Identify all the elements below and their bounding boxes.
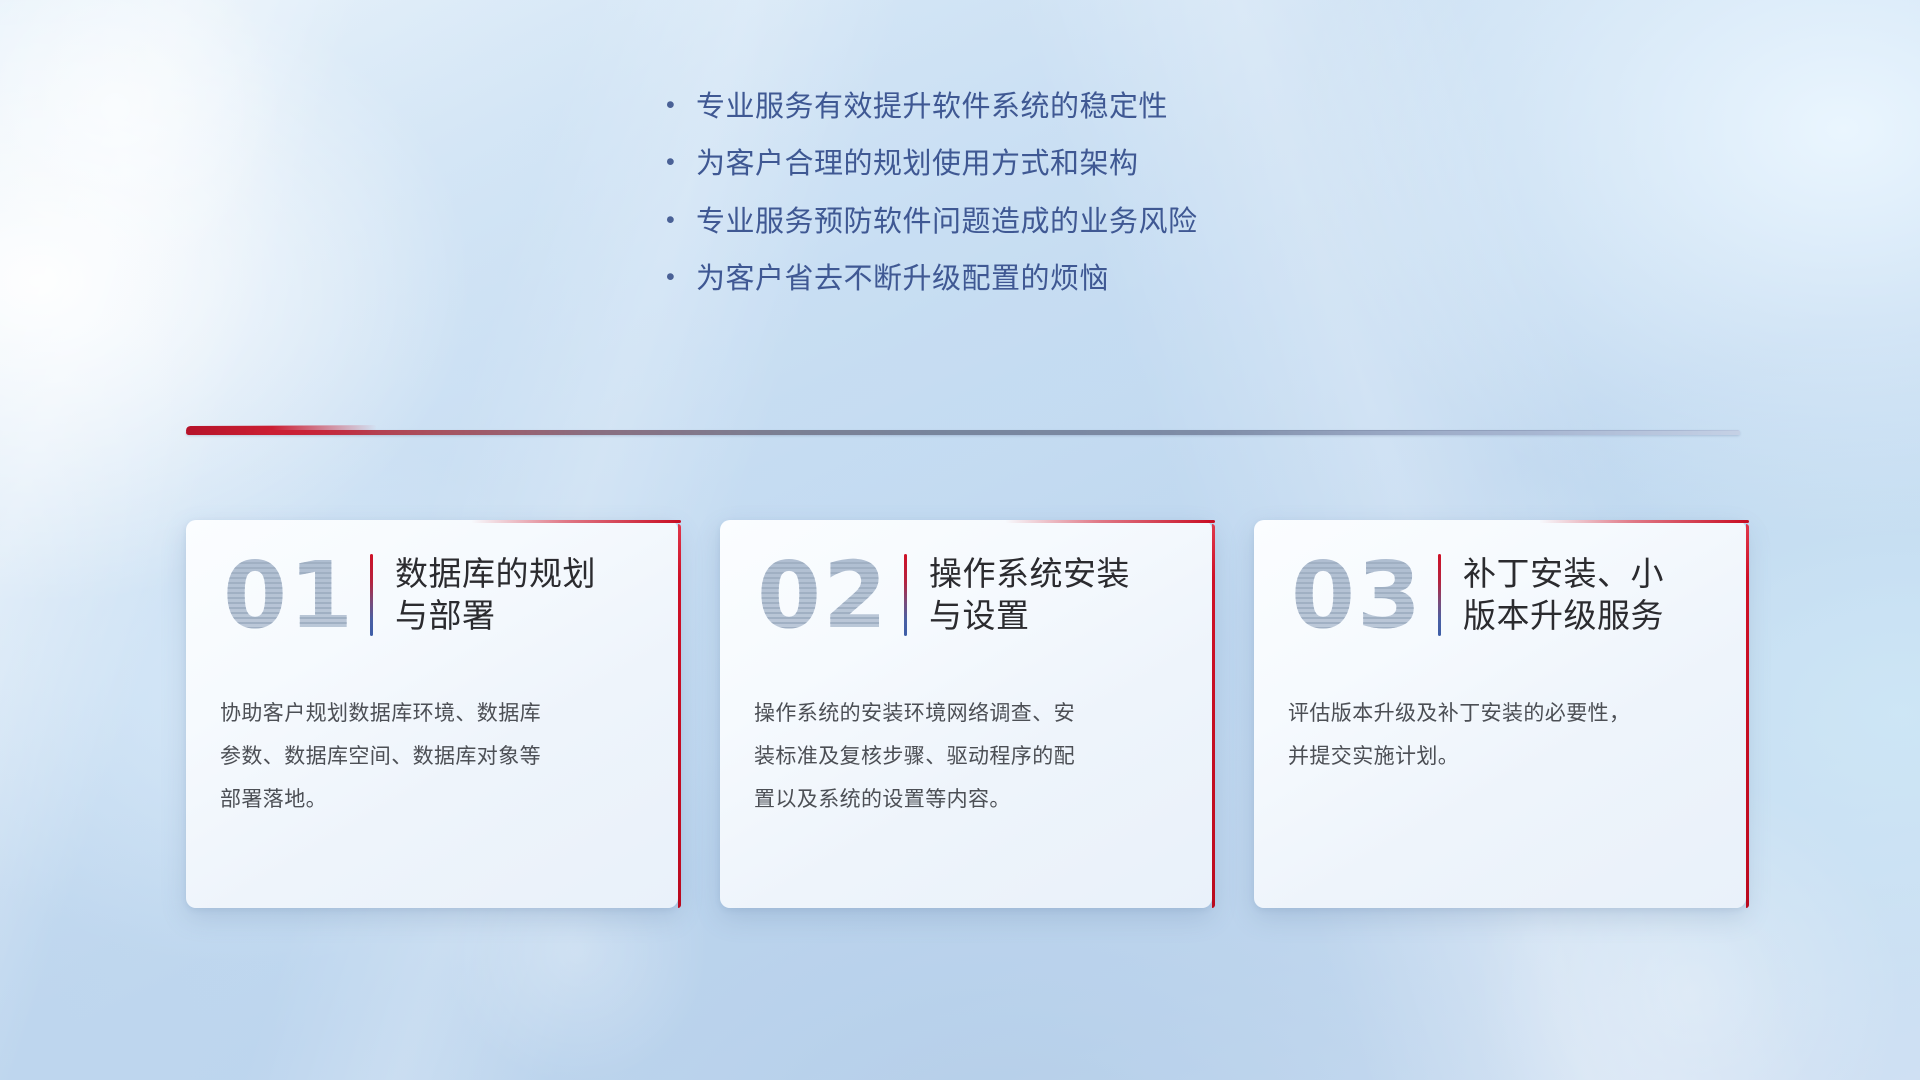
list-item: • 为客户合理的规划使用方式和架构 <box>666 147 1446 182</box>
list-item: • 专业服务预防软件问题造成的业务风险 <box>666 205 1446 240</box>
card-row: 01 数据库的规划 与部署 协助客户规划数据库环境、数据库 参数、数据库空间、数… <box>186 520 1746 920</box>
card-title: 数据库的规划 与部署 <box>395 553 678 637</box>
card-title-divider <box>904 554 907 636</box>
card-accent-edge <box>1212 524 1215 908</box>
card-description-line1: 操作系统的安装环境网络调查、安 <box>754 692 1184 735</box>
bullet-text: 专业服务有效提升软件系统的稳定性 <box>696 90 1168 125</box>
bullet-dot-icon: • <box>666 265 696 290</box>
card-header: 03 补丁安装、小 版本升级服务 <box>1254 520 1746 670</box>
card-description: 操作系统的安装环境网络调查、安 装标准及复核步骤、驱动程序的配 置以及系统的设置… <box>754 692 1184 821</box>
card-title-line1: 操作系统安装 <box>929 553 1194 595</box>
card-description-line2: 装标准及复核步骤、驱动程序的配 <box>754 735 1184 778</box>
bullet-dot-icon: • <box>666 93 696 118</box>
list-item: • 为客户省去不断升级配置的烦恼 <box>666 262 1446 297</box>
list-item: • 专业服务有效提升软件系统的稳定性 <box>666 90 1446 125</box>
divider-line <box>186 430 1740 435</box>
card-header: 02 操作系统安装 与设置 <box>720 520 1212 670</box>
card-description-line3: 部署落地。 <box>220 778 650 821</box>
card-description-line2: 参数、数据库空间、数据库对象等 <box>220 735 650 778</box>
card-description: 协助客户规划数据库环境、数据库 参数、数据库空间、数据库对象等 部署落地。 <box>220 692 650 821</box>
card-accent-edge <box>1746 524 1749 908</box>
bullet-dot-icon: • <box>666 150 696 175</box>
card-title-line1: 补丁安装、小 <box>1463 553 1728 595</box>
slide-canvas: • 专业服务有效提升软件系统的稳定性 • 为客户合理的规划使用方式和架构 • 专… <box>0 0 1920 1080</box>
bullet-text: 专业服务预防软件问题造成的业务风险 <box>696 205 1198 240</box>
card-01[interactable]: 01 数据库的规划 与部署 协助客户规划数据库环境、数据库 参数、数据库空间、数… <box>186 520 678 908</box>
bullet-list: • 专业服务有效提升软件系统的稳定性 • 为客户合理的规划使用方式和架构 • 专… <box>666 90 1446 320</box>
section-divider <box>186 424 1740 444</box>
bullet-dot-icon: • <box>666 208 696 233</box>
card-description-line2: 并提交实施计划。 <box>1288 735 1718 778</box>
card-title-line1: 数据库的规划 <box>395 553 660 595</box>
bullet-text: 为客户省去不断升级配置的烦恼 <box>696 262 1109 297</box>
card-title-divider <box>370 554 373 636</box>
card-number: 01 <box>214 542 364 648</box>
bullet-text: 为客户合理的规划使用方式和架构 <box>696 147 1139 182</box>
card-title-line2: 与部署 <box>395 595 660 637</box>
card-description-line3: 置以及系统的设置等内容。 <box>754 778 1184 821</box>
card-02[interactable]: 02 操作系统安装 与设置 操作系统的安装环境网络调查、安 装标准及复核步骤、驱… <box>720 520 1212 908</box>
card-description: 评估版本升级及补丁安装的必要性， 并提交实施计划。 <box>1288 692 1718 778</box>
card-number: 02 <box>748 542 898 648</box>
card-title-line2: 版本升级服务 <box>1463 595 1728 637</box>
card-accent-edge <box>678 524 681 908</box>
card-title-divider <box>1438 554 1441 636</box>
card-header: 01 数据库的规划 与部署 <box>186 520 678 670</box>
card-number: 03 <box>1282 542 1432 648</box>
card-description-line1: 评估版本升级及补丁安装的必要性， <box>1288 692 1718 735</box>
card-title: 操作系统安装 与设置 <box>929 553 1212 637</box>
card-03[interactable]: 03 补丁安装、小 版本升级服务 评估版本升级及补丁安装的必要性， 并提交实施计… <box>1254 520 1746 908</box>
card-title: 补丁安装、小 版本升级服务 <box>1463 553 1746 637</box>
card-title-line2: 与设置 <box>929 595 1194 637</box>
card-description-line1: 协助客户规划数据库环境、数据库 <box>220 692 650 735</box>
